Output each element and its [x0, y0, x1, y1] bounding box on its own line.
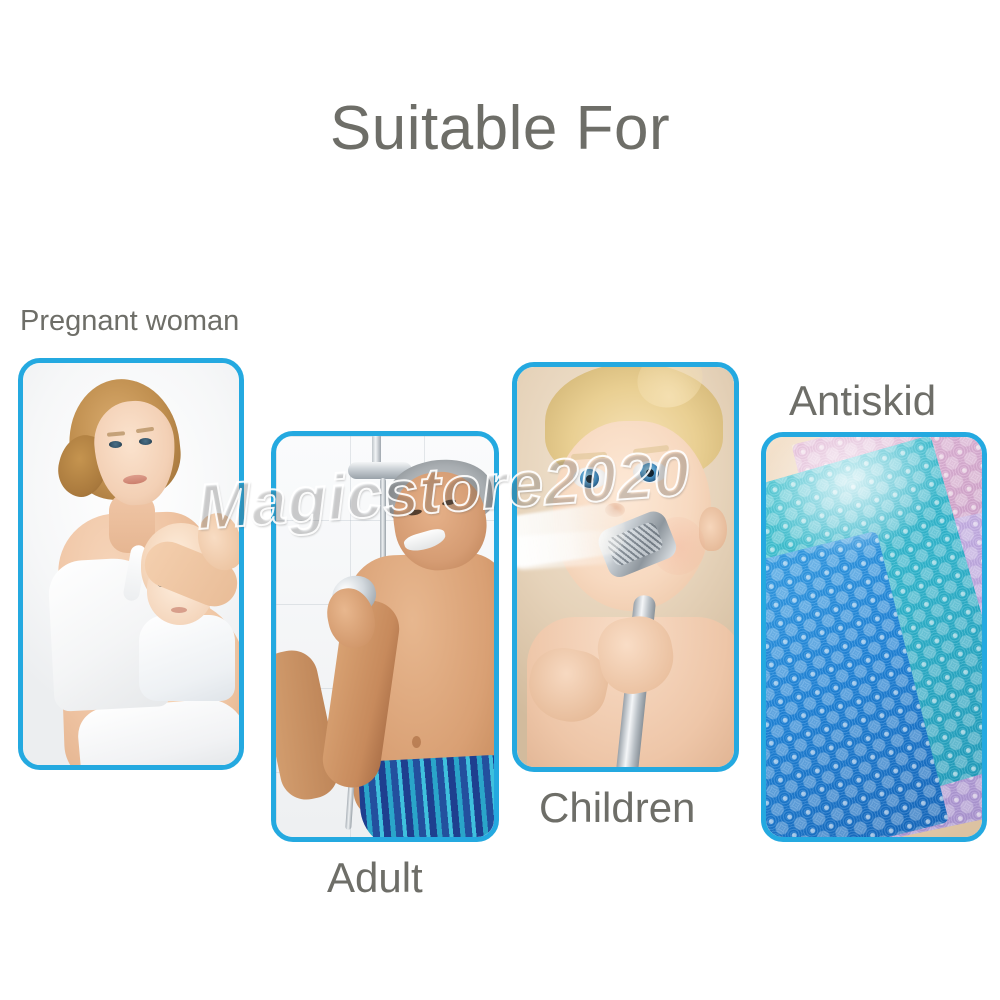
- card-label-antiskid: Antiskid: [789, 380, 936, 422]
- photo-adult-man-shower: [276, 436, 494, 837]
- photo-card-pregnant-woman[interactable]: [18, 358, 244, 770]
- woman-eye-right: [139, 438, 152, 445]
- photo-card-antiskid[interactable]: [761, 432, 987, 842]
- photo-child-shower: [517, 367, 734, 767]
- card-label-children: Children: [539, 787, 695, 829]
- card-label-pregnant-woman: Pregnant woman: [20, 307, 239, 336]
- product-feature-image: Suitable For Pregnant woman: [0, 0, 1000, 1000]
- baby-mouth: [171, 607, 187, 613]
- photo-card-children[interactable]: [512, 362, 739, 772]
- card-label-adult: Adult: [327, 857, 423, 899]
- photo-pregnant-woman: [23, 363, 239, 765]
- baby-body: [139, 615, 235, 701]
- page-title: Suitable For: [0, 98, 1000, 160]
- woman-eye-left: [109, 441, 122, 448]
- photo-antiskid-mats: [766, 437, 982, 837]
- child-pupil-right: [646, 469, 654, 477]
- photo-card-adult[interactable]: [271, 431, 499, 842]
- child-pupil-left: [586, 475, 594, 483]
- man-navel: [412, 736, 421, 748]
